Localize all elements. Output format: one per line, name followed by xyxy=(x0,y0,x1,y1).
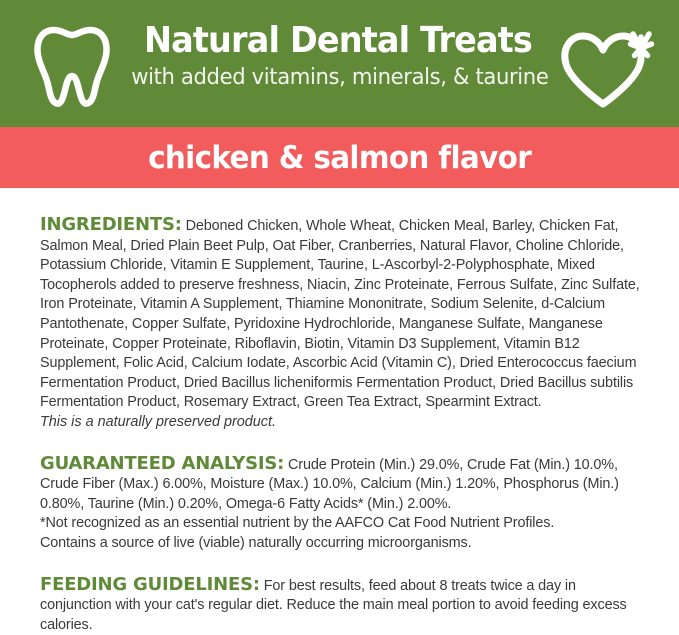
microorganisms-footnote: Contains a source of live (viable) natur… xyxy=(40,534,643,554)
guaranteed-analysis-section: GUARANTEED ANALYSIS: Crude Protein (Min.… xyxy=(40,454,643,554)
page-subtitle: with added vitamins, minerals, & taurine xyxy=(131,62,545,92)
aafco-footnote: *Not recognized as an essential nutrient… xyxy=(40,514,643,534)
ingredients-heading: INGREDIENTS: xyxy=(40,214,182,235)
tooth-icon xyxy=(34,24,110,108)
page-title: Natural Dental Treats xyxy=(133,20,542,62)
hero-text-block: Natural Dental Treats with added vitamin… xyxy=(118,20,558,92)
guaranteed-analysis-heading: GUARANTEED ANALYSIS: xyxy=(40,453,284,474)
pet-food-label: Natural Dental Treats with added vitamin… xyxy=(0,0,679,632)
feeding-guidelines-paragraph: FEEDING GUIDELINES: For best results, fe… xyxy=(40,575,643,635)
guaranteed-analysis-paragraph: GUARANTEED ANALYSIS: Crude Protein (Min.… xyxy=(40,454,643,515)
label-content: INGREDIENTS: Deboned Chicken, Whole Whea… xyxy=(0,188,679,635)
ingredients-section: INGREDIENTS: Deboned Chicken, Whole Whea… xyxy=(40,215,643,433)
feeding-guidelines-section: FEEDING GUIDELINES: For best results, fe… xyxy=(40,575,643,635)
feeding-guidelines-heading: FEEDING GUIDELINES: xyxy=(40,574,260,595)
hero-banner: Natural Dental Treats with added vitamin… xyxy=(0,0,679,127)
ingredients-body: Deboned Chicken, Whole Wheat, Chicken Me… xyxy=(40,218,640,410)
flavor-banner: chicken & salmon flavor xyxy=(0,127,679,188)
ingredients-preservation-note: This is a naturally preserved product. xyxy=(40,413,643,433)
heart-sparkle-icon xyxy=(557,22,657,112)
ingredients-paragraph: INGREDIENTS: Deboned Chicken, Whole Whea… xyxy=(40,215,643,413)
flavor-label: chicken & salmon flavor xyxy=(148,140,531,176)
